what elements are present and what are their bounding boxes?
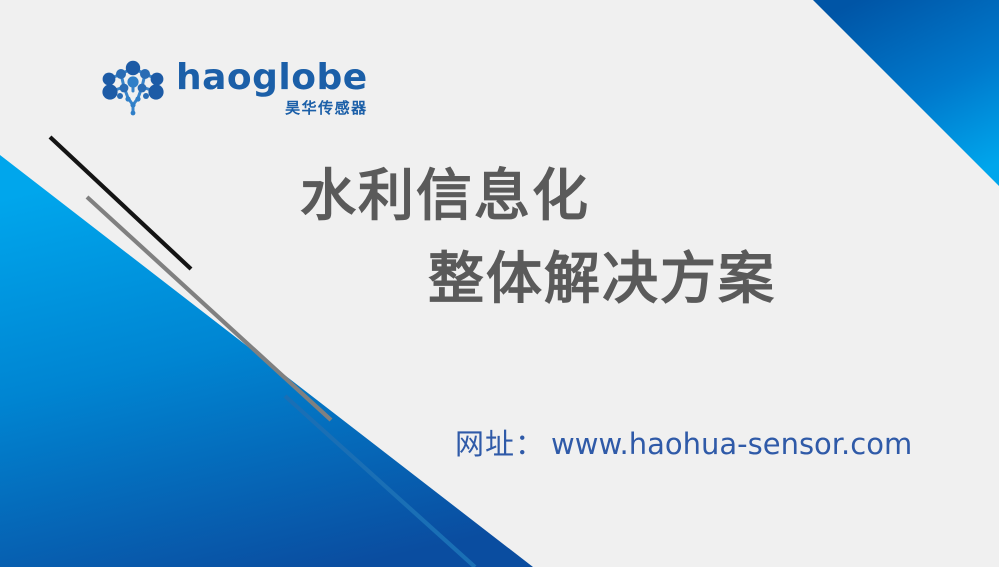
blue-diagonal-line [285, 396, 475, 567]
company-logo: haoglobe 昊华传感器 [96, 58, 368, 118]
slide-title: 水利信息化 整体解决方案 [300, 165, 900, 313]
title-line-1: 水利信息化 [300, 165, 900, 230]
logo-subtitle-chinese: 昊华传感器 [285, 101, 368, 116]
website-line: 网址： www.haohua-sensor.com [455, 421, 912, 463]
gray-diagonal-line [87, 197, 331, 420]
top-right-blue-triangle [813, 0, 999, 186]
website-url[interactable]: www.haohua-sensor.com [551, 427, 912, 461]
website-label: 网址： [455, 421, 545, 463]
logo-text-column: haoglobe 昊华传感器 [176, 58, 368, 116]
black-diagonal-line [50, 137, 191, 269]
haoglobe-network-dots-icon [96, 58, 170, 118]
logo-wordmark: haoglobe [176, 60, 368, 96]
presentation-slide: haoglobe 昊华传感器 水利信息化 整体解决方案 网址： www.haoh… [0, 0, 999, 567]
title-line-2: 整体解决方案 [428, 248, 900, 313]
